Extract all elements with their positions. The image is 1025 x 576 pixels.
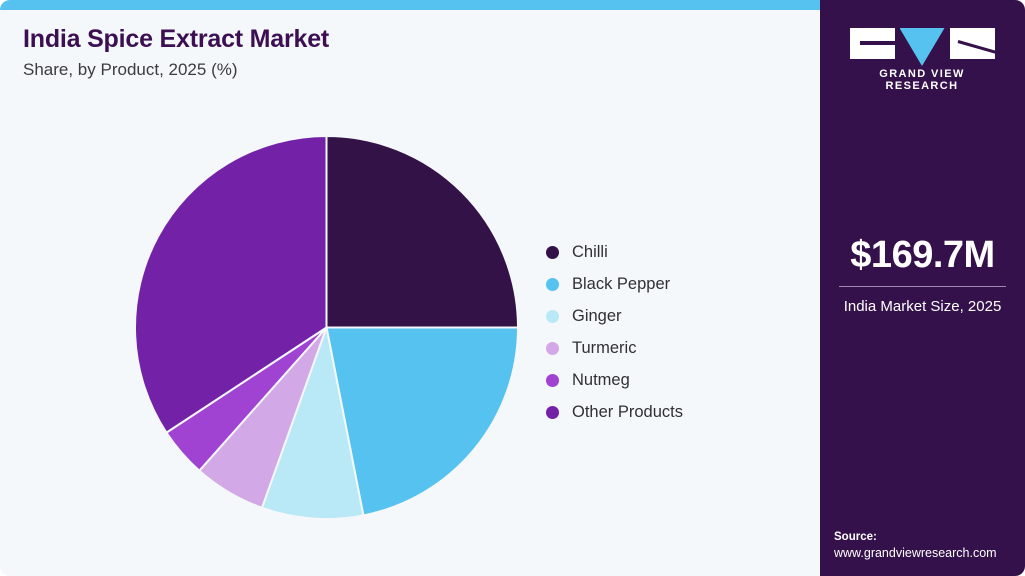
logo-letter-r-icon xyxy=(950,28,995,59)
title-block: India Spice Extract Market Share, by Pro… xyxy=(23,26,723,79)
logo-letter-v-triangle-icon xyxy=(900,28,945,66)
legend-item-label: Nutmeg xyxy=(572,371,630,390)
pie-slice-group xyxy=(135,136,518,519)
source-label: Source: xyxy=(834,530,1024,546)
infographic-card: India Spice Extract Market Share, by Pro… xyxy=(0,0,1025,576)
pie-slice xyxy=(327,136,519,328)
market-size-stat: $169.7M India Market Size, 2025 xyxy=(820,236,1025,317)
chart-panel: India Spice Extract Market Share, by Pro… xyxy=(0,0,820,576)
legend-item[interactable]: Nutmeg xyxy=(546,364,796,396)
stat-value: $169.7M xyxy=(820,236,1025,274)
logo-marks xyxy=(846,28,998,60)
legend-item[interactable]: Other Products xyxy=(546,396,796,428)
legend-item[interactable]: Turmeric xyxy=(546,332,796,364)
pie-chart-svg xyxy=(135,136,518,519)
stat-caption: India Market Size, 2025 xyxy=(820,297,1025,317)
legend-swatch-icon xyxy=(546,342,559,355)
brand-logo: GRAND VIEW RESEARCH xyxy=(846,28,998,92)
source-url: www.grandviewresearch.com xyxy=(834,545,1024,562)
legend-item[interactable]: Ginger xyxy=(546,300,796,332)
legend-item-label: Black Pepper xyxy=(572,275,670,294)
stat-divider xyxy=(839,286,1006,287)
legend-swatch-icon xyxy=(546,278,559,291)
legend-item[interactable]: Black Pepper xyxy=(546,268,796,300)
legend-item-label: Ginger xyxy=(572,307,622,326)
logo-letter-g-icon xyxy=(850,28,895,59)
legend-swatch-icon xyxy=(546,246,559,259)
legend-item[interactable]: Chilli xyxy=(546,236,796,268)
chart-legend: ChilliBlack PepperGingerTurmericNutmegOt… xyxy=(546,236,796,428)
legend-item-label: Chilli xyxy=(572,243,608,262)
page-subtitle: Share, by Product, 2025 (%) xyxy=(23,60,723,80)
page-title: India Spice Extract Market xyxy=(23,26,723,54)
legend-swatch-icon xyxy=(546,374,559,387)
side-panel: GRAND VIEW RESEARCH $169.7M India Market… xyxy=(820,0,1025,576)
legend-item-label: Other Products xyxy=(572,403,683,422)
legend-item-label: Turmeric xyxy=(572,339,636,358)
pie-chart xyxy=(135,136,518,519)
legend-swatch-icon xyxy=(546,310,559,323)
source-block: Source: www.grandviewresearch.com xyxy=(834,530,1024,562)
top-accent-bar xyxy=(0,0,820,10)
legend-swatch-icon xyxy=(546,406,559,419)
logo-wordmark: GRAND VIEW RESEARCH xyxy=(846,68,998,92)
